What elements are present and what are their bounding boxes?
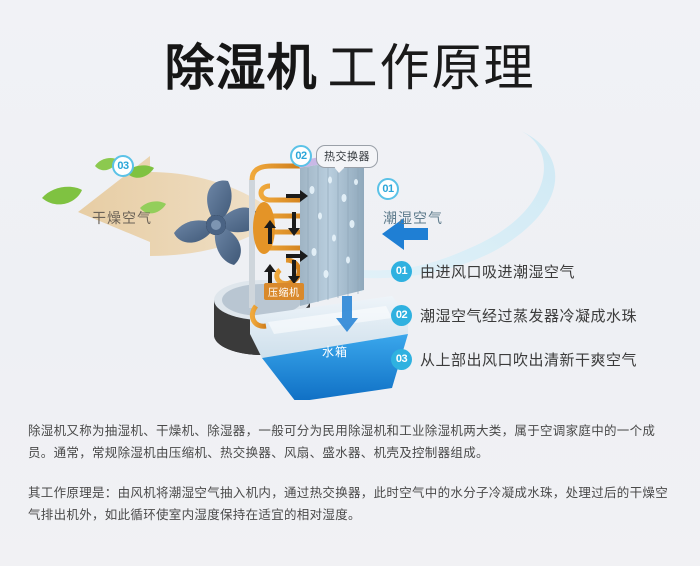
label-dry-air: 干燥空气 [92, 208, 152, 228]
step-text-02: 潮湿空气经过蒸发器冷凝成水珠 [420, 305, 637, 326]
callout-heat-exchanger: 热交换器 [316, 145, 378, 168]
paragraph-1: 除湿机又称为抽湿机、干燥机、除湿器，一般可分为民用除湿机和工业除湿机两大类，属于… [28, 420, 676, 464]
body-copy: 除湿机又称为抽湿机、干燥机、除湿器，一般可分为民用除湿机和工业除湿机两大类，属于… [28, 420, 676, 526]
diagram-badge-02: 02 [290, 145, 312, 167]
step-text-01: 由进风口吸进潮湿空气 [420, 261, 575, 282]
step-text-03: 从上部出风口吹出清新干爽空气 [420, 349, 637, 370]
diagram-badge-03: 03 [112, 155, 134, 177]
diagram-badge-01: 01 [377, 178, 399, 200]
page-title-light: 工作原理 [328, 40, 536, 96]
dry-air-arrow [78, 156, 272, 256]
paragraph-2: 其工作原理是：由风机将潮湿空气抽入机内，通过热交换器，此时空气中的水分子冷凝成水… [28, 482, 676, 526]
list-item: 01 由进风口吸进潮湿空气 [391, 255, 691, 287]
steps-list: 01 由进风口吸进潮湿空气 02 潮湿空气经过蒸发器冷凝成水珠 03 从上部出风… [391, 255, 691, 387]
page-title-strong: 除湿机 [165, 40, 318, 96]
page-root: 除湿机工作原理 [0, 0, 700, 566]
label-water-tank: 水箱 [322, 343, 348, 360]
step-badge-02: 02 [391, 305, 412, 326]
step-badge-03: 03 [391, 349, 412, 370]
list-item: 03 从上部出风口吹出清新干爽空气 [391, 343, 691, 375]
list-item: 02 潮湿空气经过蒸发器冷凝成水珠 [391, 299, 691, 331]
label-humid-air: 潮湿空气 [383, 208, 443, 228]
label-compressor: 压缩机 [264, 283, 304, 300]
page-title: 除湿机工作原理 [0, 28, 700, 100]
step-badge-01: 01 [391, 261, 412, 282]
